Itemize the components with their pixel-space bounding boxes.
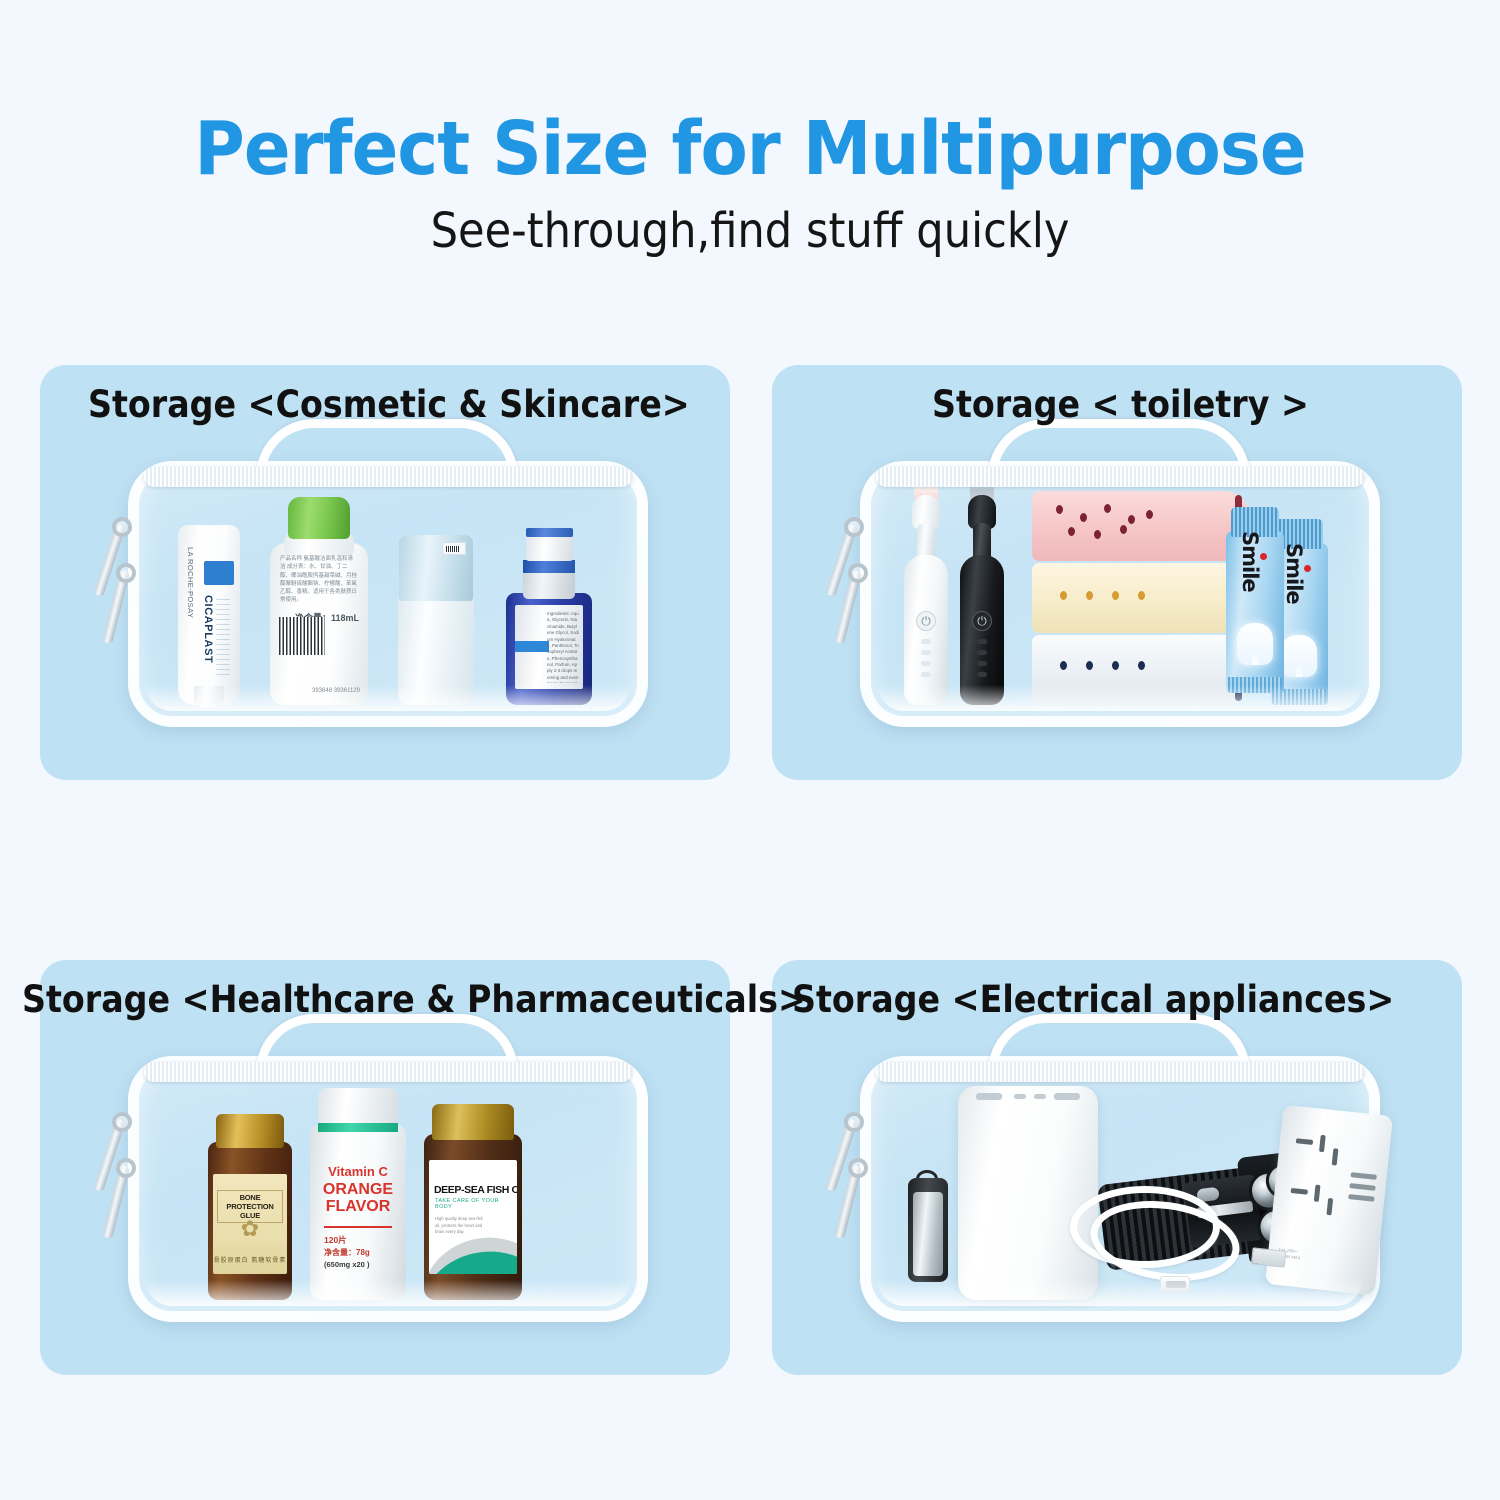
tube-blue-patch	[204, 561, 234, 585]
panel-label-electric: Storage <Electrical appliances>	[792, 978, 1394, 1021]
page-subheadline: See-through,find stuff quickly	[75, 203, 1425, 259]
vitc-title-line1: Vitamin C	[316, 1164, 400, 1179]
pouch-zipper	[876, 1062, 1364, 1082]
power-icon: ⏻	[972, 611, 992, 631]
item-usb-flash-drive	[908, 1178, 948, 1282]
panel-electrical-appliances: 10A 250V~2500W MAX	[772, 960, 1462, 1375]
fishoil-body-text: High quality deep sea fish oil, protects…	[435, 1216, 485, 1236]
jar-subtitle-text: 骨胶原蛋白 氨糖软骨素	[213, 1255, 287, 1264]
toothpaste-brand-text: Smile	[1282, 543, 1306, 604]
serum-label-stripe	[515, 641, 549, 652]
toothbrush-mode-indicators	[921, 639, 931, 687]
item-folded-towel-pink	[1032, 491, 1250, 561]
jar-cap	[432, 1104, 514, 1140]
pouch-floor-shine	[878, 1280, 1362, 1306]
jar-label: DEEP-SEA FISH OIL TAKE CARE OF YOUR BODY…	[429, 1160, 517, 1274]
herb-emblem-icon: ✿	[241, 1218, 259, 1240]
pouch-zipper	[144, 467, 632, 487]
toothbrush-mode-indicators	[977, 639, 987, 687]
pouch-contents-pharma: BONE PROTECTION GLUE ✿ 骨胶原蛋白 氨糖软骨素 Vitam…	[142, 1080, 634, 1308]
toothpaste-brand-text: Smile	[1238, 531, 1262, 592]
usb-ports-icon	[1348, 1172, 1377, 1208]
fishoil-subtitle-text: TAKE CARE OF YOUR BODY	[435, 1198, 517, 1210]
power-socket-icon	[1293, 1132, 1353, 1180]
panel-pharma-inner: BONE PROTECTION GLUE ✿ 骨胶原蛋白 氨糖软骨素 Vitam…	[40, 960, 730, 1375]
panel-label-pharma: Storage <Healthcare & Pharmaceuticals>	[22, 978, 806, 1021]
item-bone-protection-glue-bottle: BONE PROTECTION GLUE ✿ 骨胶原蛋白 氨糖软骨素	[208, 1114, 292, 1300]
pouch-floor-shine	[878, 685, 1362, 711]
bottle-cap	[288, 497, 350, 539]
zipper-ring-icon	[112, 1112, 132, 1132]
clear-pouch-electric: 10A 250V~2500W MAX	[860, 1056, 1380, 1322]
pouch-zipper	[876, 467, 1364, 487]
item-vitamin-c-bottle: Vitamin C ORANGE FLAVOR 120片 净含量：78g (65…	[310, 1086, 406, 1300]
toothpaste-brand-dot	[1260, 553, 1267, 560]
serum-ring-lower	[523, 560, 575, 573]
price-tag-icon	[442, 542, 466, 555]
tube-detail-lines	[216, 599, 230, 677]
vitc-weight-text: 净含量：78g	[324, 1247, 370, 1258]
item-lotion-bottle-green-cap: 产品名称 氨基酸洁面乳温和清洁 成分表：水、甘油、丁二醇、椰油酰胺丙基甜菜碱、月…	[270, 499, 368, 705]
jar-label: BONE PROTECTION GLUE ✿ 骨胶原蛋白 氨糖软骨素	[213, 1174, 287, 1274]
panel-electric-inner: 10A 250V~2500W MAX	[772, 960, 1462, 1375]
infographic-page: Perfect Size for Multipurpose See-throug…	[0, 0, 1500, 1500]
jar-cap	[216, 1114, 284, 1148]
powerbank-ports-icon	[976, 1093, 1080, 1102]
item-la-roche-posay-cicaplast-tube: LA ROCHE-POSAY CICAPLAST	[178, 525, 240, 705]
panel-healthcare-pharmaceuticals: BONE PROTECTION GLUE ✿ 骨胶原蛋白 氨糖软骨素 Vitam…	[40, 960, 730, 1375]
item-toothpaste-tube-front: Smile	[1226, 503, 1284, 693]
panel-toiletry-inner: ⏻ ⏻	[772, 365, 1462, 780]
toothpaste-brand-dot	[1304, 565, 1311, 572]
fishoil-title-text: DEEP-SEA FISH OIL	[434, 1184, 514, 1196]
pouch-floor-shine	[146, 1280, 630, 1306]
jar-label: Vitamin C ORANGE FLAVOR 120片 净含量：78g (65…	[316, 1148, 400, 1280]
towel-dot-pattern	[1050, 503, 1170, 543]
power-socket-icon	[1287, 1182, 1347, 1230]
tube-product-text: CICAPLAST	[202, 595, 214, 663]
zipper-ring-icon	[116, 1158, 136, 1178]
jar-cap-ring	[318, 1123, 398, 1132]
zipper-ring-icon	[844, 1112, 864, 1132]
header: Perfect Size for Multipurpose See-throug…	[0, 0, 1500, 259]
clear-pouch-pharma: BONE PROTECTION GLUE ✿ 骨胶原蛋白 氨糖软骨素 Vitam…	[128, 1056, 648, 1322]
item-blue-serum-pump-bottle: Ingredients: Aqua, Glycerin, Niacinamide…	[506, 519, 592, 705]
zipper-ring-icon	[844, 517, 864, 537]
pouch-zipper	[144, 1062, 632, 1082]
pouch-contents-toiletry: ⏻ ⏻	[874, 485, 1366, 713]
vitc-dosage-text: (650mg x20 )	[324, 1260, 369, 1269]
zipper-ring-icon	[848, 563, 868, 583]
item-deep-sea-fish-oil-bottle: DEEP-SEA FISH OIL TAKE CARE OF YOUR BODY…	[424, 1104, 522, 1300]
serum-label-text: Ingredients: Aqua, Glycerin, Niacinamide…	[547, 611, 579, 683]
vitc-orange-text: ORANGE	[323, 1181, 393, 1198]
serum-ring-upper	[526, 528, 573, 537]
item-folded-towel-cream	[1032, 563, 1250, 633]
zipper-ring-icon	[112, 517, 132, 537]
zipper-pulls	[826, 1114, 872, 1244]
usb-drive-metal-body	[913, 1192, 943, 1276]
zipper-pulls	[826, 519, 872, 649]
pouch-contents-cosmetic: LA ROCHE-POSAY CICAPLAST 产品名称 氨基酸洁面乳温和清洁…	[142, 485, 634, 713]
panel-label-toiletry: Storage < toiletry >	[932, 383, 1309, 426]
vitc-flavor-text: FLAVOR	[326, 1198, 391, 1215]
clear-pouch-toiletry: ⏻ ⏻	[860, 461, 1380, 727]
bottle-ingredients-text: 产品名称 氨基酸洁面乳温和清洁 成分表：水、甘油、丁二醇、椰油酰胺丙基甜菜碱、月…	[280, 555, 358, 607]
tooth-icon	[1281, 635, 1317, 677]
clear-pouch-cosmetic: LA ROCHE-POSAY CICAPLAST 产品名称 氨基酸洁面乳温和清洁…	[128, 461, 648, 727]
zipper-pulls	[94, 519, 140, 649]
panel-toiletry: ⏻ ⏻	[772, 365, 1462, 780]
tube-brand-text: LA ROCHE-POSAY	[186, 547, 195, 618]
tooth-icon	[1237, 623, 1273, 665]
power-icon: ⏻	[916, 611, 936, 631]
vitc-divider	[324, 1226, 392, 1228]
zipper-ring-icon	[116, 563, 136, 583]
vitc-title-line2: ORANGE FLAVOR	[316, 1182, 400, 1216]
panel-label-cosmetic: Storage <Cosmetic & Skincare>	[88, 383, 690, 426]
zipper-pulls	[94, 1114, 140, 1244]
towel-dot-pattern	[1050, 647, 1170, 687]
panel-cosmetic-skincare: LA ROCHE-POSAY CICAPLAST 产品名称 氨基酸洁面乳温和清洁…	[40, 365, 730, 780]
pouch-floor-shine	[146, 685, 630, 711]
barcode-icon	[279, 617, 325, 655]
item-electric-toothbrush-white: ⏻	[904, 477, 948, 705]
item-electric-toothbrush-black: ⏻	[960, 469, 1004, 705]
serum-label: Ingredients: Aqua, Glycerin, Niacinamide…	[515, 605, 583, 689]
item-towel-stack	[1032, 491, 1250, 705]
towel-dot-pattern	[1050, 575, 1170, 615]
item-frosted-toner-bottle	[398, 531, 474, 705]
page-headline: Perfect Size for Multipurpose	[53, 112, 1448, 187]
zipper-ring-icon	[848, 1158, 868, 1178]
vitc-count-text: 120片	[324, 1234, 347, 1247]
panel-cosmetic-inner: LA ROCHE-POSAY CICAPLAST 产品名称 氨基酸洁面乳温和清洁…	[40, 365, 730, 780]
pouch-contents-electric: 10A 250V~2500W MAX	[874, 1080, 1366, 1308]
item-usb-charging-cable	[1064, 1176, 1294, 1294]
